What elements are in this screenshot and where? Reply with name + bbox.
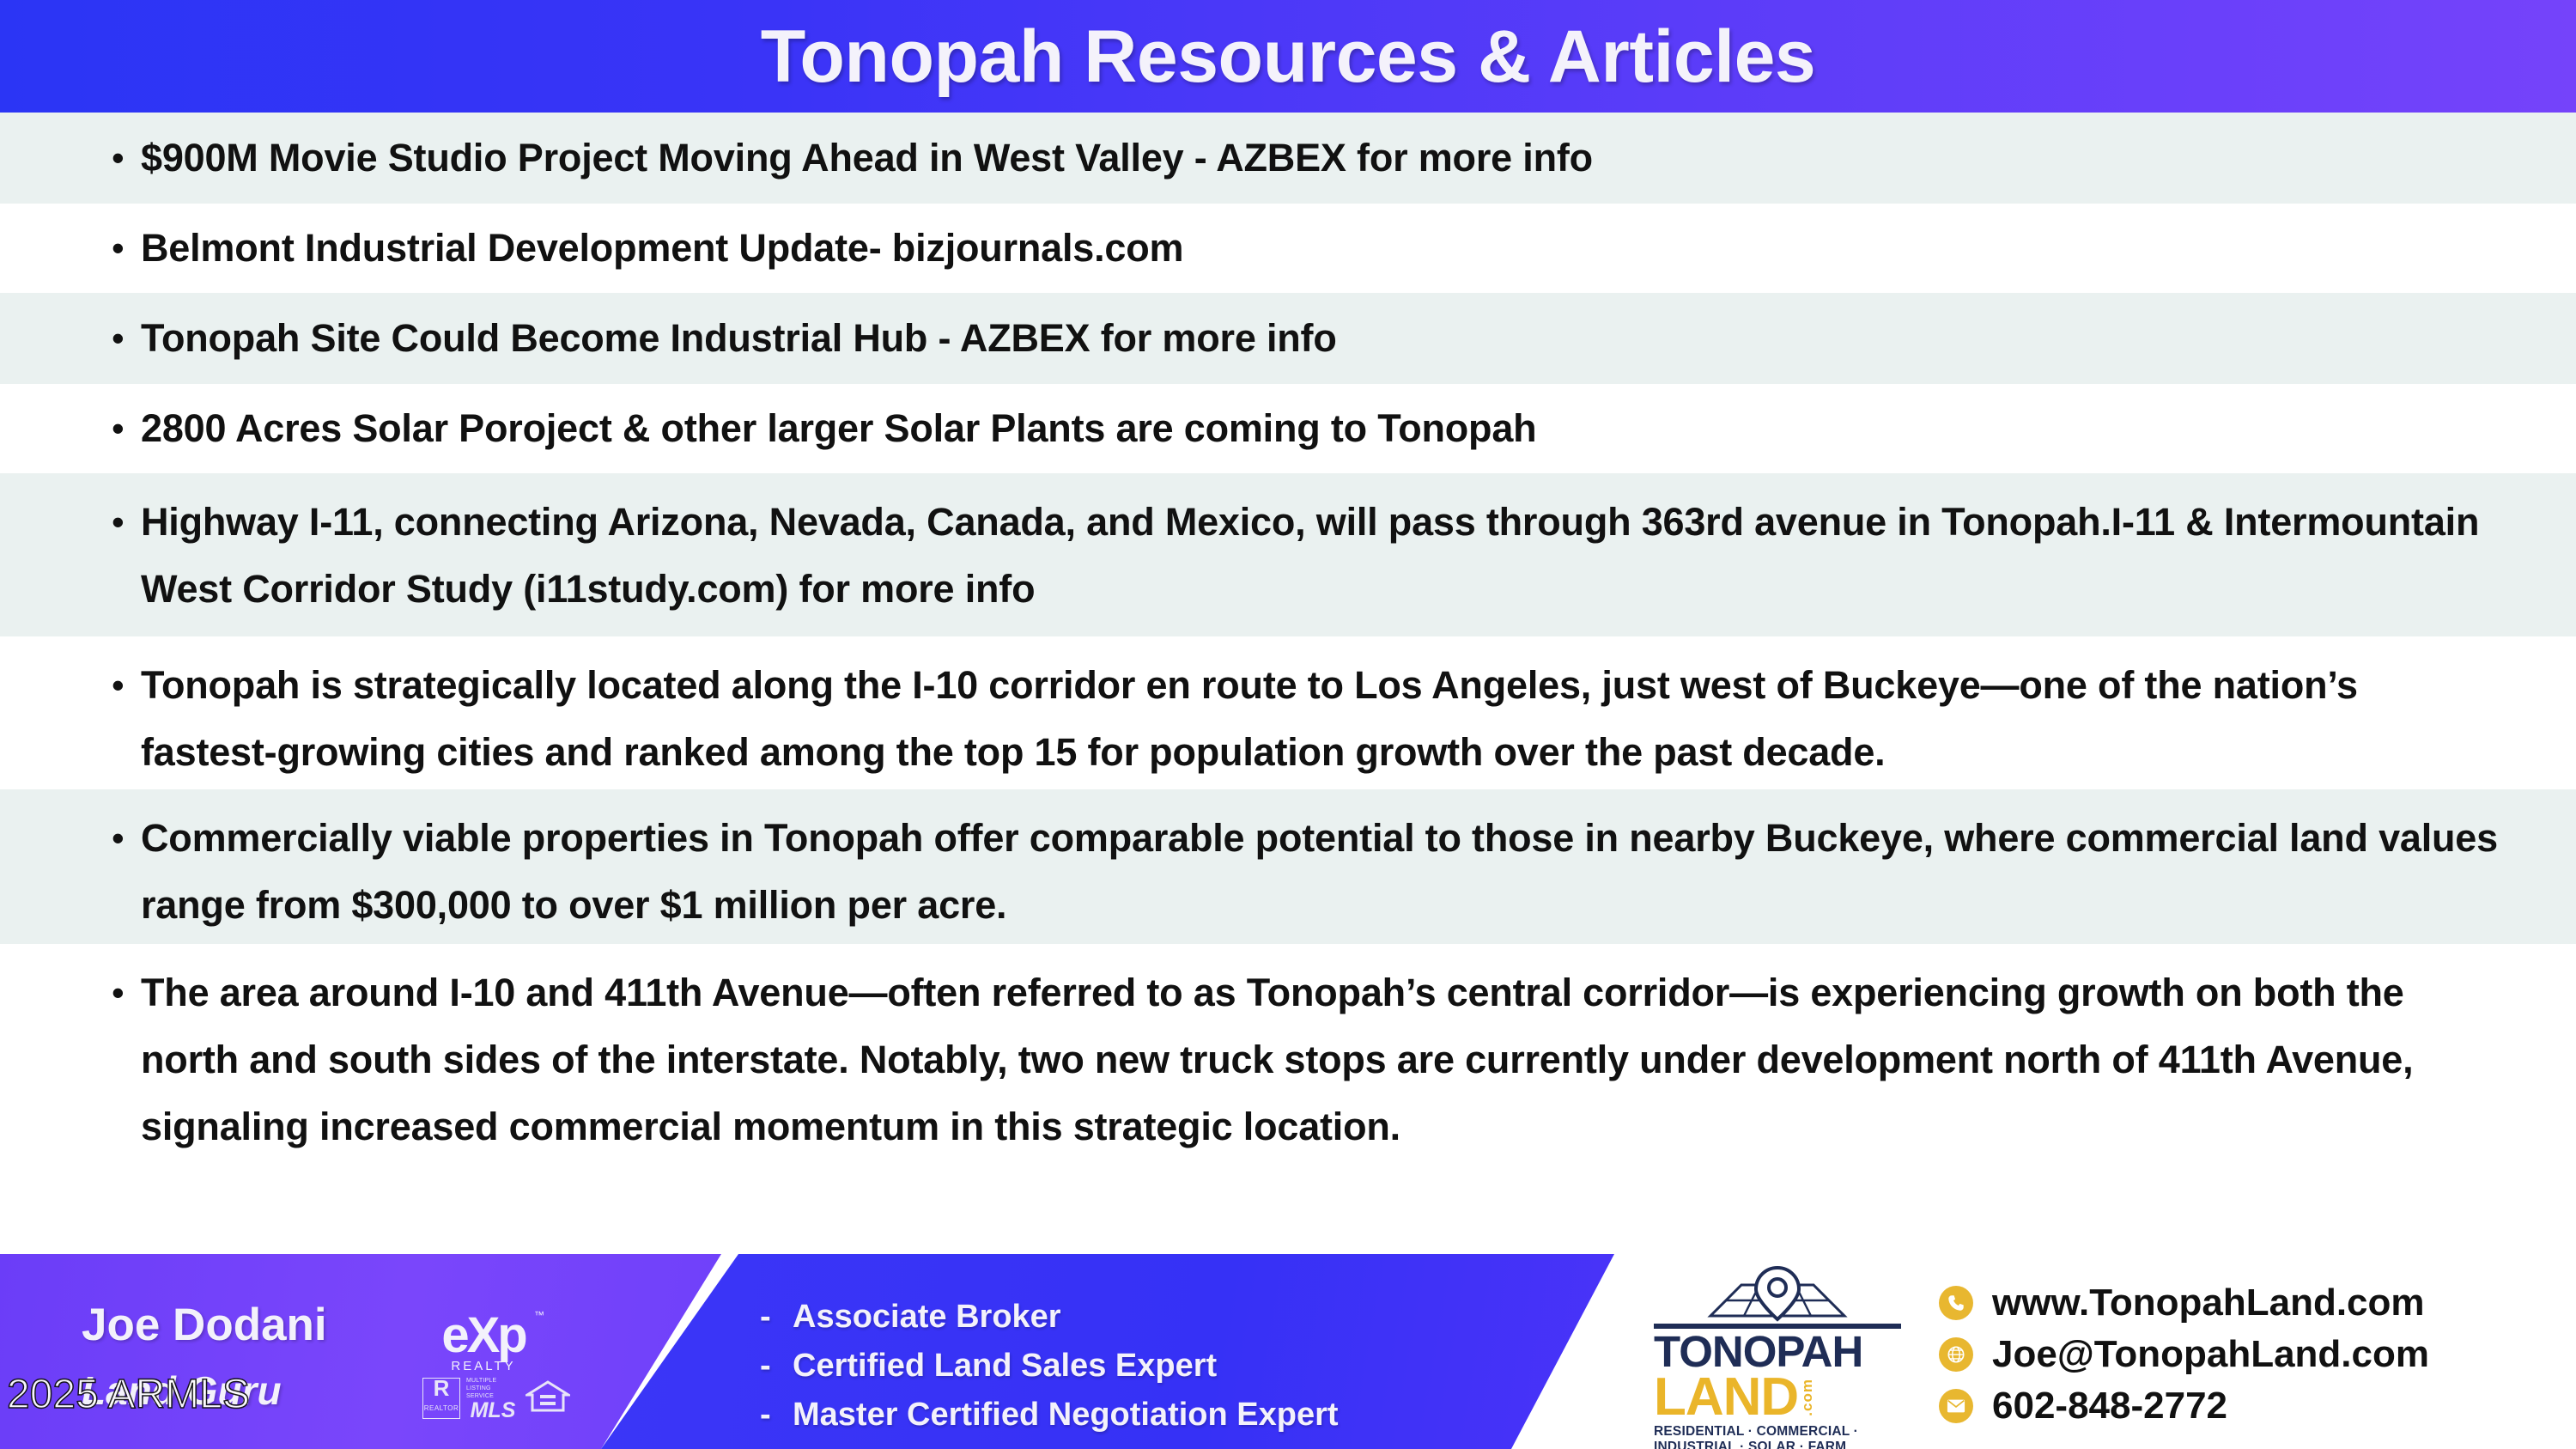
logo-bottom-row: LAND .com [1654, 1373, 1906, 1422]
list-item-text: Tonopah is strategically located along t… [141, 652, 2499, 786]
mls-badge-icon: MULTIPLE LISTING SERVICE MLS [466, 1378, 519, 1419]
dash-icon: - [760, 1391, 793, 1440]
bullet-icon: • [112, 489, 141, 556]
dash-icon: - [760, 1293, 793, 1342]
bullet-icon: • [112, 399, 141, 458]
logo-domain-suffix: .com [1801, 1379, 1814, 1416]
contact-row-phone[interactable]: 602-848-2772 [1939, 1380, 2429, 1432]
page-title: Tonopah Resources & Articles [761, 20, 1816, 94]
globe-icon [1939, 1337, 1973, 1372]
map-pin-solar-icon [1649, 1266, 1906, 1323]
compliance-badges: R REALTOR MULTIPLE LISTING SERVICE MLS [422, 1376, 570, 1421]
contact-phone: 602-848-2772 [1992, 1385, 2227, 1428]
realtor-caption: REALTOR [424, 1398, 459, 1419]
list-item-text: Commercially viable properties in Tonopa… [141, 805, 2499, 939]
bullet-icon: • [112, 219, 141, 277]
contact-row-email[interactable]: Joe@TonopahLand.com [1939, 1329, 2429, 1380]
bullet-icon: • [112, 805, 141, 872]
list-item: • Belmont Industrial Development Update-… [0, 204, 2576, 293]
contact-website: www.TonopahLand.com [1992, 1282, 2425, 1324]
qualification-item: - Master Certified Negotiation Expert [760, 1391, 1339, 1440]
mls-wordmark: MLS [471, 1400, 516, 1421]
list-item-text: The area around I-10 and 411th Avenue—of… [141, 959, 2499, 1160]
list-item: • Tonopah Site Could Become Industrial H… [0, 293, 2576, 384]
mls-top-text: MULTIPLE LISTING SERVICE [466, 1377, 519, 1400]
contact-row-website[interactable]: www.TonopahLand.com [1939, 1277, 2429, 1329]
qualification-label: Master Certified Negotiation Expert [793, 1391, 1339, 1440]
armls-watermark: 2025 ARMLS [7, 1371, 250, 1418]
logo-bottom-word: LAND [1654, 1373, 1798, 1422]
list-item: • The area around I-10 and 411th Avenue—… [0, 944, 2576, 1167]
resources-list: • $900M Movie Studio Project Moving Ahea… [0, 113, 2576, 1239]
qualification-label: Certified Land Sales Expert [793, 1342, 1217, 1391]
bullet-icon: • [112, 959, 141, 1026]
logo-top-word: TONOPAH [1654, 1331, 1906, 1373]
qualification-item: - Associate Broker [760, 1293, 1339, 1342]
slide-root: Tonopah Resources & Articles • $900M Mov… [0, 0, 2576, 1449]
contact-block: www.TonopahLand.com Joe@TonopahLand.com … [1939, 1277, 2429, 1432]
footer-purple-panel [0, 1254, 721, 1449]
list-item-text: Tonopah Site Could Become Industrial Hub… [141, 308, 2499, 368]
realtor-letter: R [434, 1378, 450, 1398]
list-item: • Commercially viable properties in Tono… [0, 789, 2576, 944]
dash-icon: - [760, 1342, 793, 1391]
list-item-text: $900M Movie Studio Project Moving Ahead … [141, 128, 2499, 188]
list-item: • 2800 Acres Solar Poroject & other larg… [0, 384, 2576, 473]
equal-housing-icon [526, 1376, 570, 1421]
envelope-icon [1939, 1389, 1973, 1423]
bullet-icon: • [112, 652, 141, 719]
tonopah-land-logo: TONOPAH LAND .com RESIDENTIAL · COMMERCI… [1649, 1266, 1906, 1449]
qualification-label: Associate Broker [793, 1293, 1061, 1342]
list-item: • Tonopah is strategically located along… [0, 636, 2576, 789]
list-item-text: 2800 Acres Solar Poroject & other larger… [141, 399, 2499, 458]
agent-name: Joe Dodani [82, 1299, 327, 1351]
exp-wordmark: eXp [428, 1312, 539, 1359]
qualification-item: - Certified Land Sales Expert [760, 1342, 1339, 1391]
phone-icon [1939, 1286, 1973, 1320]
qualifications-list: - Associate Broker - Certified Land Sale… [760, 1293, 1339, 1440]
exp-realty-logo: eXp REALTY ™ [428, 1312, 539, 1374]
contact-email: Joe@TonopahLand.com [1992, 1333, 2429, 1376]
logo-tagline: RESIDENTIAL · COMMERCIAL · INDUSTRIAL · … [1654, 1424, 1906, 1449]
list-item-text: Highway I-11, connecting Arizona, Nevada… [141, 489, 2499, 623]
bullet-icon: • [112, 128, 141, 188]
realtor-badge-icon: R REALTOR [422, 1378, 460, 1419]
bullet-icon: • [112, 308, 141, 368]
list-item: • $900M Movie Studio Project Moving Ahea… [0, 113, 2576, 204]
list-item: • Highway I-11, connecting Arizona, Neva… [0, 473, 2576, 636]
list-item-text: Belmont Industrial Development Update- b… [141, 219, 2499, 277]
page-header: Tonopah Resources & Articles [0, 0, 2576, 113]
trademark-icon: ™ [534, 1309, 544, 1321]
